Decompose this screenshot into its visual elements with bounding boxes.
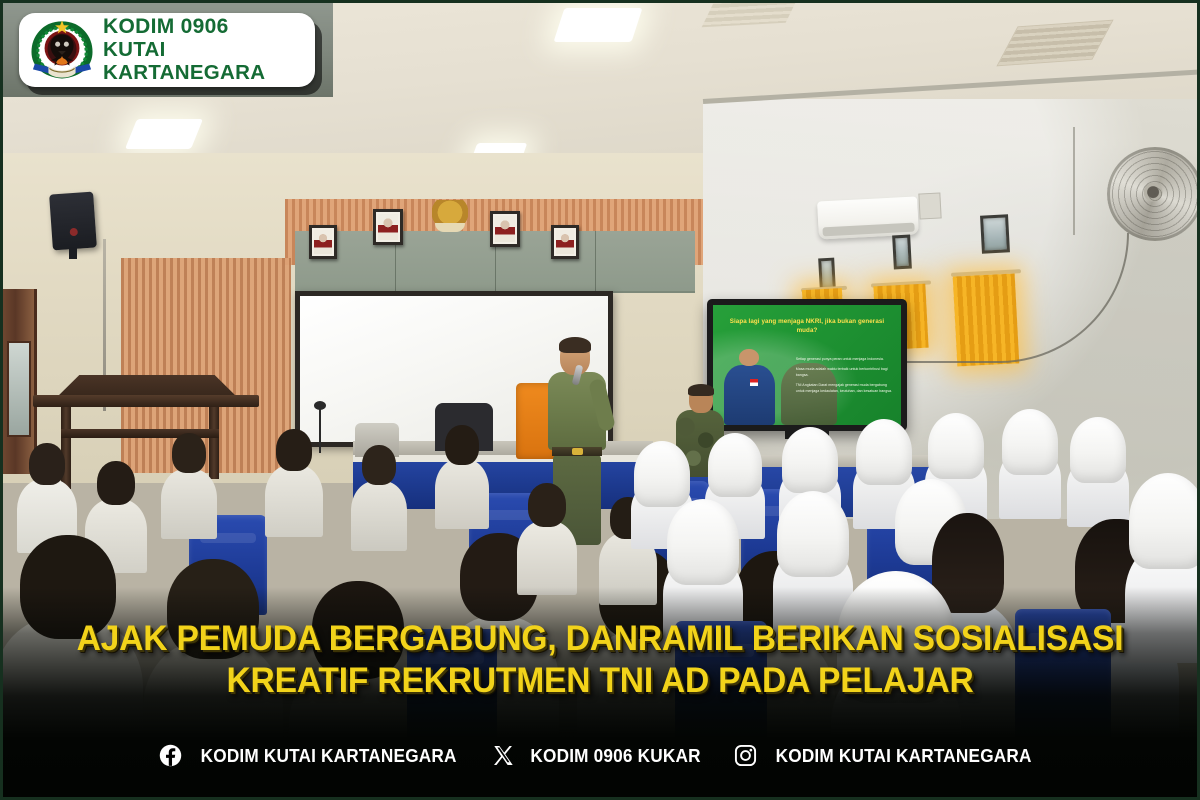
wall-crack [1073,127,1075,235]
facebook-handle: KODIM KUTAI KARTANEGARA [201,745,457,767]
framed-portrait [551,225,579,259]
social-media-bar: KODIM KUTAI KARTANEGARA KODIM 0906 KUKAR… [3,744,1197,767]
speaker-mount [69,247,77,259]
slide-bullet: Masa muda adalah waktu terbaik untuk ber… [796,367,894,378]
ceiling-light [553,8,642,42]
student-attendee [351,445,407,551]
badge-line-1: KODIM 0906 [103,15,303,39]
framed-portrait [490,211,520,247]
ceiling-vent [996,20,1113,67]
badge-line-2: KUTAI KARTANEGARA [103,39,303,85]
student-attendee-hijab [1067,417,1129,527]
badge-text: KODIM 0906 KUTAI KARTANEGARA [103,15,303,84]
student-attendee-hijab [999,409,1061,519]
poster-container: Siapa lagi yang menjaga NKRI, jika bukan… [0,0,1200,800]
headline-line-1: AJAK PEMUDA BERGABUNG, DANRAMIL BERIKAN … [54,618,1146,659]
student-attendee [435,425,489,529]
facebook-icon [159,744,182,767]
headline-line-2: KREATIF REKRUTMEN TNI AD PADA PELAJAR [54,660,1146,701]
student-attendee [517,483,577,595]
wall-speaker [49,192,97,251]
tni-ad-kartika-eka-paksi-emblem [31,19,93,81]
x-handle: KODIM 0906 KUKAR [531,745,701,767]
ceiling-light [125,119,203,149]
headline-block: AJAK PEMUDA BERGABUNG, DANRAMIL BERIKAN … [3,618,1197,701]
slide-bullet: Setiap generasi punya peran untuk menjag… [796,357,894,363]
social-facebook[interactable]: KODIM KUTAI KARTANEGARA [159,744,466,767]
instagram-handle: KODIM KUTAI KARTANEGARA [775,745,1031,767]
wall-junction-box [918,192,941,219]
x-twitter-icon [492,744,515,767]
header-bar: KODIM 0906 KUTAI KARTANEGARA [3,3,333,97]
student-attendee [161,433,217,539]
social-instagram[interactable]: KODIM KUTAI KARTANEGARA [734,744,1041,767]
student-attendee [265,429,323,537]
fan-cage [1107,147,1197,241]
slide-heading: Siapa lagi yang menjaga NKRI, jika bukan… [728,317,886,336]
framed-portrait [373,209,403,245]
framed-portrait [309,225,337,259]
garuda-pancasila-emblem [432,200,468,230]
social-x-twitter[interactable]: KODIM 0906 KUKAR [492,744,707,767]
ceiling-vent [702,3,799,27]
kodim-logo-badge[interactable]: KODIM 0906 KUTAI KARTANEGARA [19,13,315,87]
instagram-icon [734,744,757,767]
